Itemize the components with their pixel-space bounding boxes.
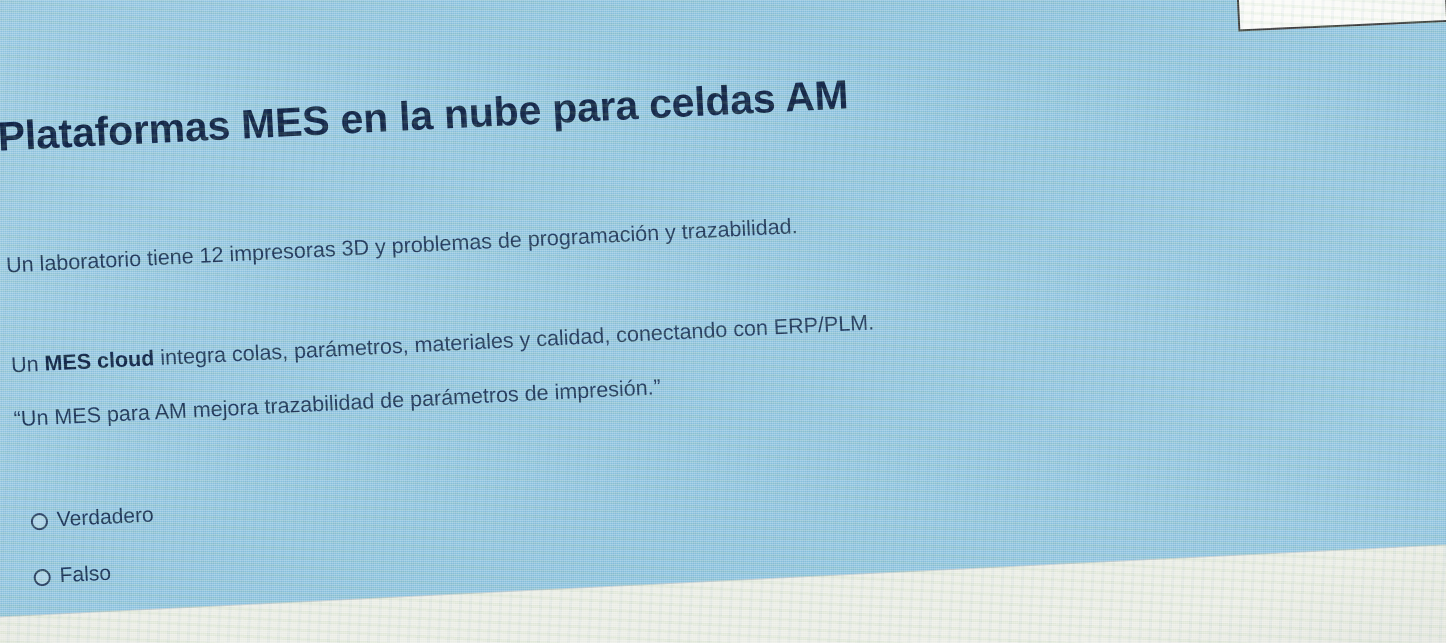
option-label-falso: Falso: [59, 562, 111, 589]
option-verdadero[interactable]: Verdadero: [30, 475, 730, 534]
answer-options: Verdadero Falso: [30, 475, 735, 622]
radio-button-icon[interactable]: [33, 568, 51, 586]
paragraph-2-bold-term: MES cloud: [44, 346, 155, 375]
radio-button-icon[interactable]: [30, 512, 48, 530]
question-content: Plataformas MES en la nube para celdas A…: [0, 0, 1446, 643]
page-title: Plataformas MES en la nube para celdas A…: [0, 44, 1397, 161]
paragraph-2-lead: Un: [11, 352, 46, 378]
paragraph-2-rest: integra colas, parámetros, materiales y …: [154, 310, 875, 370]
option-label-verdadero: Verdadero: [56, 503, 154, 532]
option-falso[interactable]: Falso: [33, 531, 733, 590]
question-paragraph-1: Un laboratorio tiene 12 impresoras 3D y …: [6, 183, 1425, 279]
screenshot-root: Plataformas MES en la nube para celdas A…: [0, 0, 1446, 643]
